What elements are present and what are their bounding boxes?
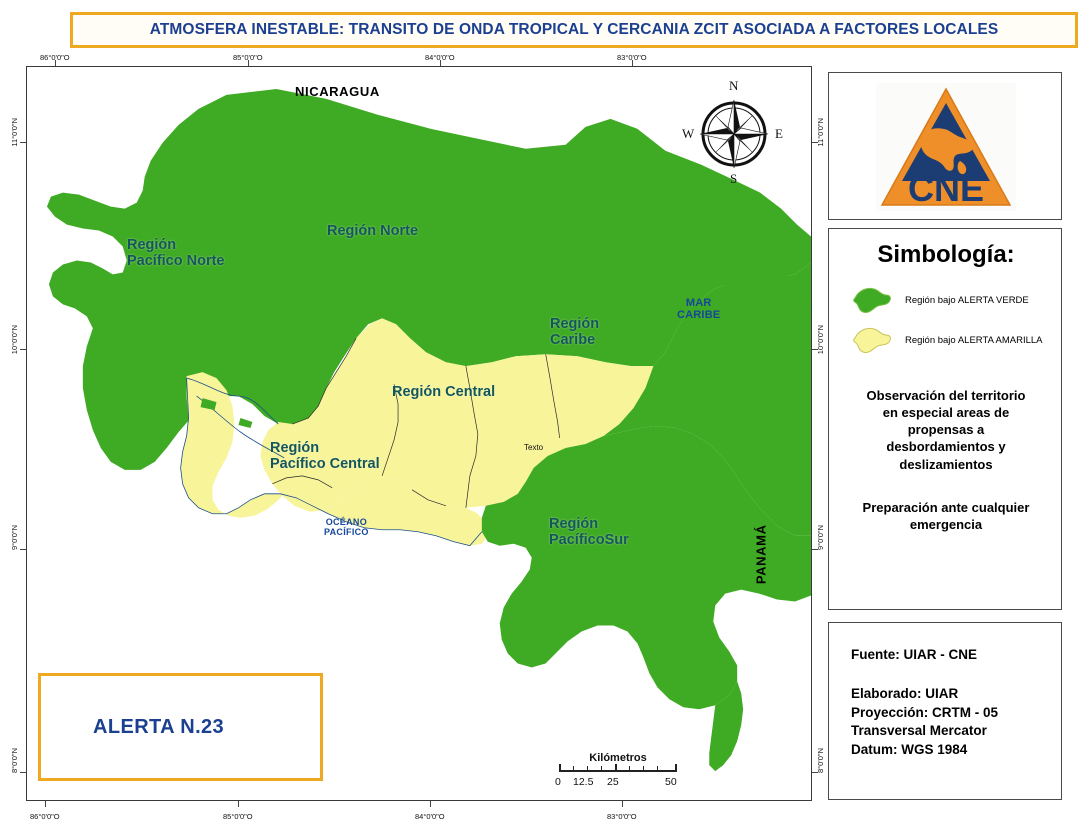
lon-tick-bottom-0	[45, 801, 46, 807]
lat-tick-right-0	[812, 142, 818, 143]
legend-item-amarilla: Región bajo ALERTA AMARILLA	[851, 324, 1042, 356]
compass-label-north: N	[729, 78, 738, 94]
cne-logo-icon: CNE	[876, 83, 1016, 211]
lat-tick-label-right-3: 8°0'0"N	[816, 748, 825, 773]
scale-bar-value-0: 0	[555, 776, 561, 788]
lon-tick-label-bottom-0: 86°0'0"O	[30, 812, 60, 821]
lon-tick-bottom-2	[430, 801, 431, 807]
scale-bar-value-3: 50	[665, 776, 677, 788]
lat-tick-label-left-2: 9°0'0"N	[10, 525, 19, 550]
legend-item-verde: Región bajo ALERTA VERDE	[851, 284, 1029, 316]
cne-logo: CNE	[876, 83, 1016, 211]
legend-note-preparacion: Preparación ante cualquier emergencia	[839, 499, 1053, 533]
credits-details: Elaborado: UIAR Proyección: CRTM - 05 Tr…	[851, 685, 998, 760]
lat-tick-label-left-1: 10°0'0"N	[10, 325, 19, 354]
alerta-label: ALERTA N.23	[41, 716, 224, 739]
logo-panel: CNE	[828, 72, 1062, 220]
scale-bar-tick-0	[559, 764, 561, 771]
legend-swatch-yellow	[851, 324, 893, 356]
lon-tick-bottom-1	[238, 801, 239, 807]
scale-bar: Kilómetros 0 12.5 25 50	[553, 752, 683, 800]
lon-tick-label-bottom-3: 83°0'0"O	[607, 812, 637, 821]
compass-label-south: S	[730, 171, 737, 187]
legend-label-verde: Región bajo ALERTA VERDE	[905, 295, 1029, 306]
page-title: ATMOSFERA INESTABLE: TRANSITO DE ONDA TR…	[150, 21, 999, 39]
lat-tick-label-left-3: 8°0'0"N	[10, 748, 19, 773]
title-banner: ATMOSFERA INESTABLE: TRANSITO DE ONDA TR…	[70, 12, 1078, 48]
scale-bar-tick-2	[615, 764, 617, 771]
legend-title: Simbología:	[829, 241, 1063, 269]
compass-label-west: W	[682, 126, 694, 142]
legend-swatch-green	[851, 284, 893, 316]
lat-tick-right-1	[812, 349, 818, 350]
lon-tick-bottom-3	[622, 801, 623, 807]
scale-bar-tick-1	[587, 766, 588, 771]
credits-panel: Fuente: UIAR - CNE Elaborado: UIAR Proye…	[828, 622, 1062, 800]
lat-tick-right-2	[812, 549, 818, 550]
lat-tick-right-3	[812, 772, 818, 773]
map-poster: ATMOSFERA INESTABLE: TRANSITO DE ONDA TR…	[0, 0, 1080, 840]
lon-tick-label-bottom-1: 85°0'0"O	[223, 812, 253, 821]
legend-panel: Simbología: Región bajo ALERTA VERDE Reg…	[828, 228, 1062, 610]
nicoya-islet-2	[238, 418, 252, 428]
scale-bar-tick-minor-2	[601, 766, 602, 771]
scale-bar-tick-3	[675, 764, 677, 771]
scale-bar-value-1: 12.5	[573, 776, 593, 788]
scale-bar-tick-minor-1	[573, 766, 574, 771]
svg-text:CNE: CNE	[908, 168, 984, 209]
credits-source: Fuente: UIAR - CNE	[851, 647, 977, 662]
compass-label-east: E	[775, 126, 783, 142]
scale-bar-tick-minor-5	[657, 766, 658, 771]
scale-bar-axis	[559, 770, 677, 772]
legend-label-amarilla: Región bajo ALERTA AMARILLA	[905, 335, 1042, 346]
lon-tick-label-bottom-2: 84°0'0"O	[415, 812, 445, 821]
lat-tick-label-right-2: 9°0'0"N	[816, 525, 825, 550]
lat-tick-label-left-0: 11°0'0"N	[10, 118, 19, 147]
alerta-box: ALERTA N.23	[38, 673, 323, 781]
scale-bar-value-2: 25	[607, 776, 619, 788]
compass-rose: N S E W	[676, 78, 792, 190]
scale-bar-tick-minor-3	[629, 766, 630, 771]
scale-bar-tick-minor-4	[643, 766, 644, 771]
scale-bar-title: Kilómetros	[553, 752, 683, 764]
legend-note-observacion: Observación del territorio en especial a…	[839, 387, 1053, 473]
